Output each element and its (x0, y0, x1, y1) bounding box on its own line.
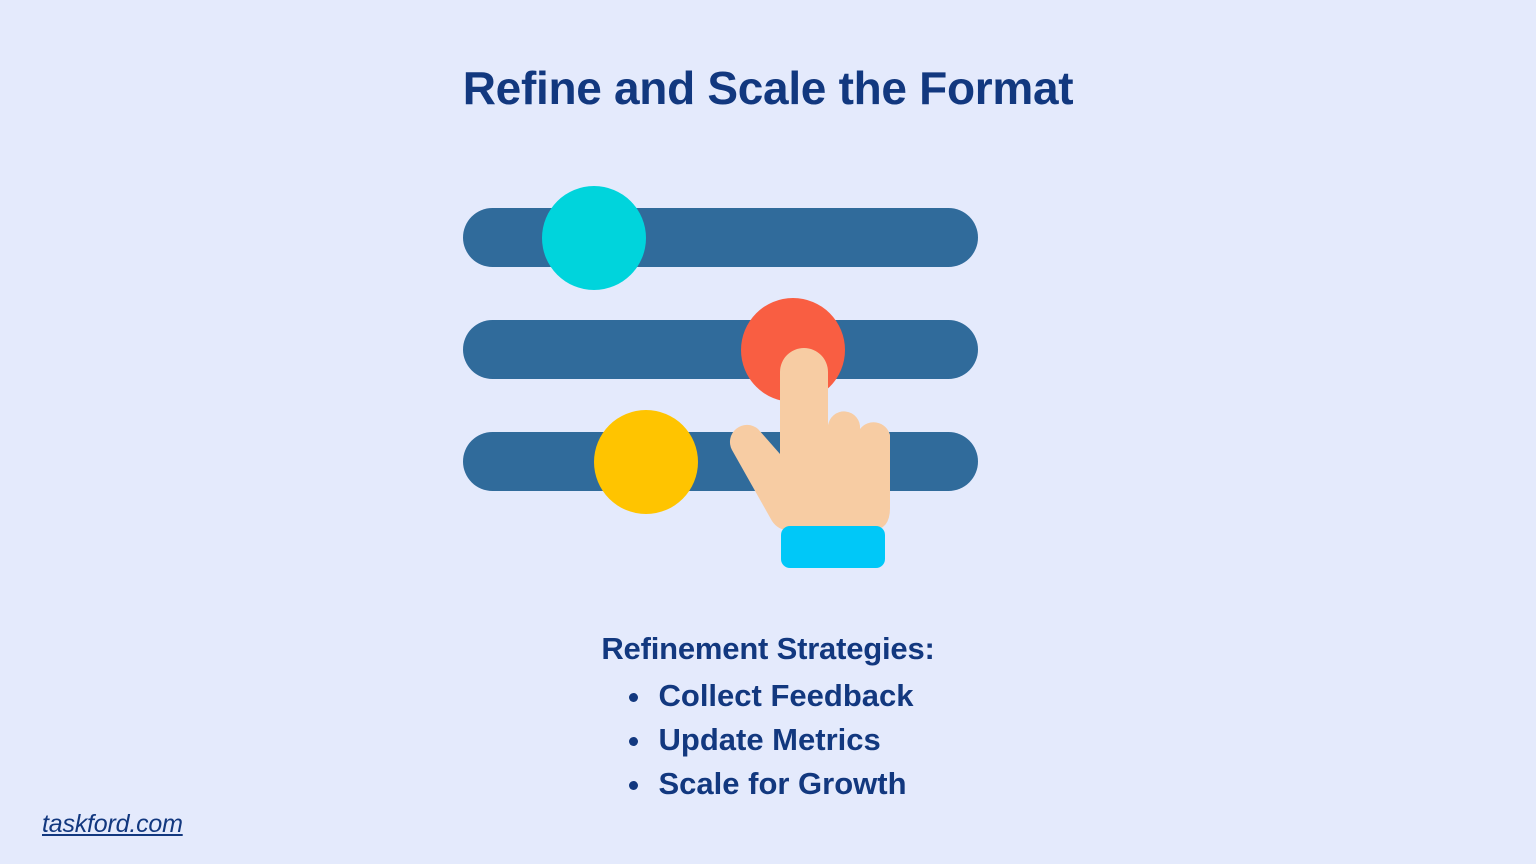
yellow-knob-icon[interactable] (594, 410, 698, 514)
teal-knob-icon[interactable] (542, 186, 646, 290)
list-item-label: Collect Feedback (659, 678, 914, 713)
list-item-label: Scale for Growth (659, 766, 907, 801)
list-item: Scale for Growth (623, 762, 914, 806)
slider-track-3[interactable] (463, 432, 978, 491)
list-item: Collect Feedback (623, 674, 914, 718)
slider-track-1[interactable] (463, 208, 978, 267)
strategies-block: Refinement Strategies: Collect Feedback … (0, 628, 1536, 806)
strategies-list: Collect Feedback Update Metrics Scale fo… (623, 674, 914, 806)
pointing-hand-icon (725, 330, 900, 565)
slide-canvas: Refine and Scale the Format Refinement S… (0, 0, 1536, 864)
slider-row-1[interactable] (463, 208, 978, 267)
strategies-heading: Refinement Strategies: (0, 628, 1536, 670)
footer-website-link[interactable]: taskford.com (42, 810, 183, 839)
slider-row-2[interactable] (463, 320, 978, 379)
bullet-dot-icon (629, 693, 638, 702)
slider-row-3[interactable] (463, 432, 978, 491)
page-title: Refine and Scale the Format (0, 56, 1536, 120)
bullet-dot-icon (629, 737, 638, 746)
hand-cuff (781, 526, 885, 568)
bullet-dot-icon (629, 781, 638, 790)
slider-illustration (463, 180, 978, 575)
slider-track-2[interactable] (463, 320, 978, 379)
list-item-label: Update Metrics (659, 722, 881, 757)
list-item: Update Metrics (623, 718, 914, 762)
